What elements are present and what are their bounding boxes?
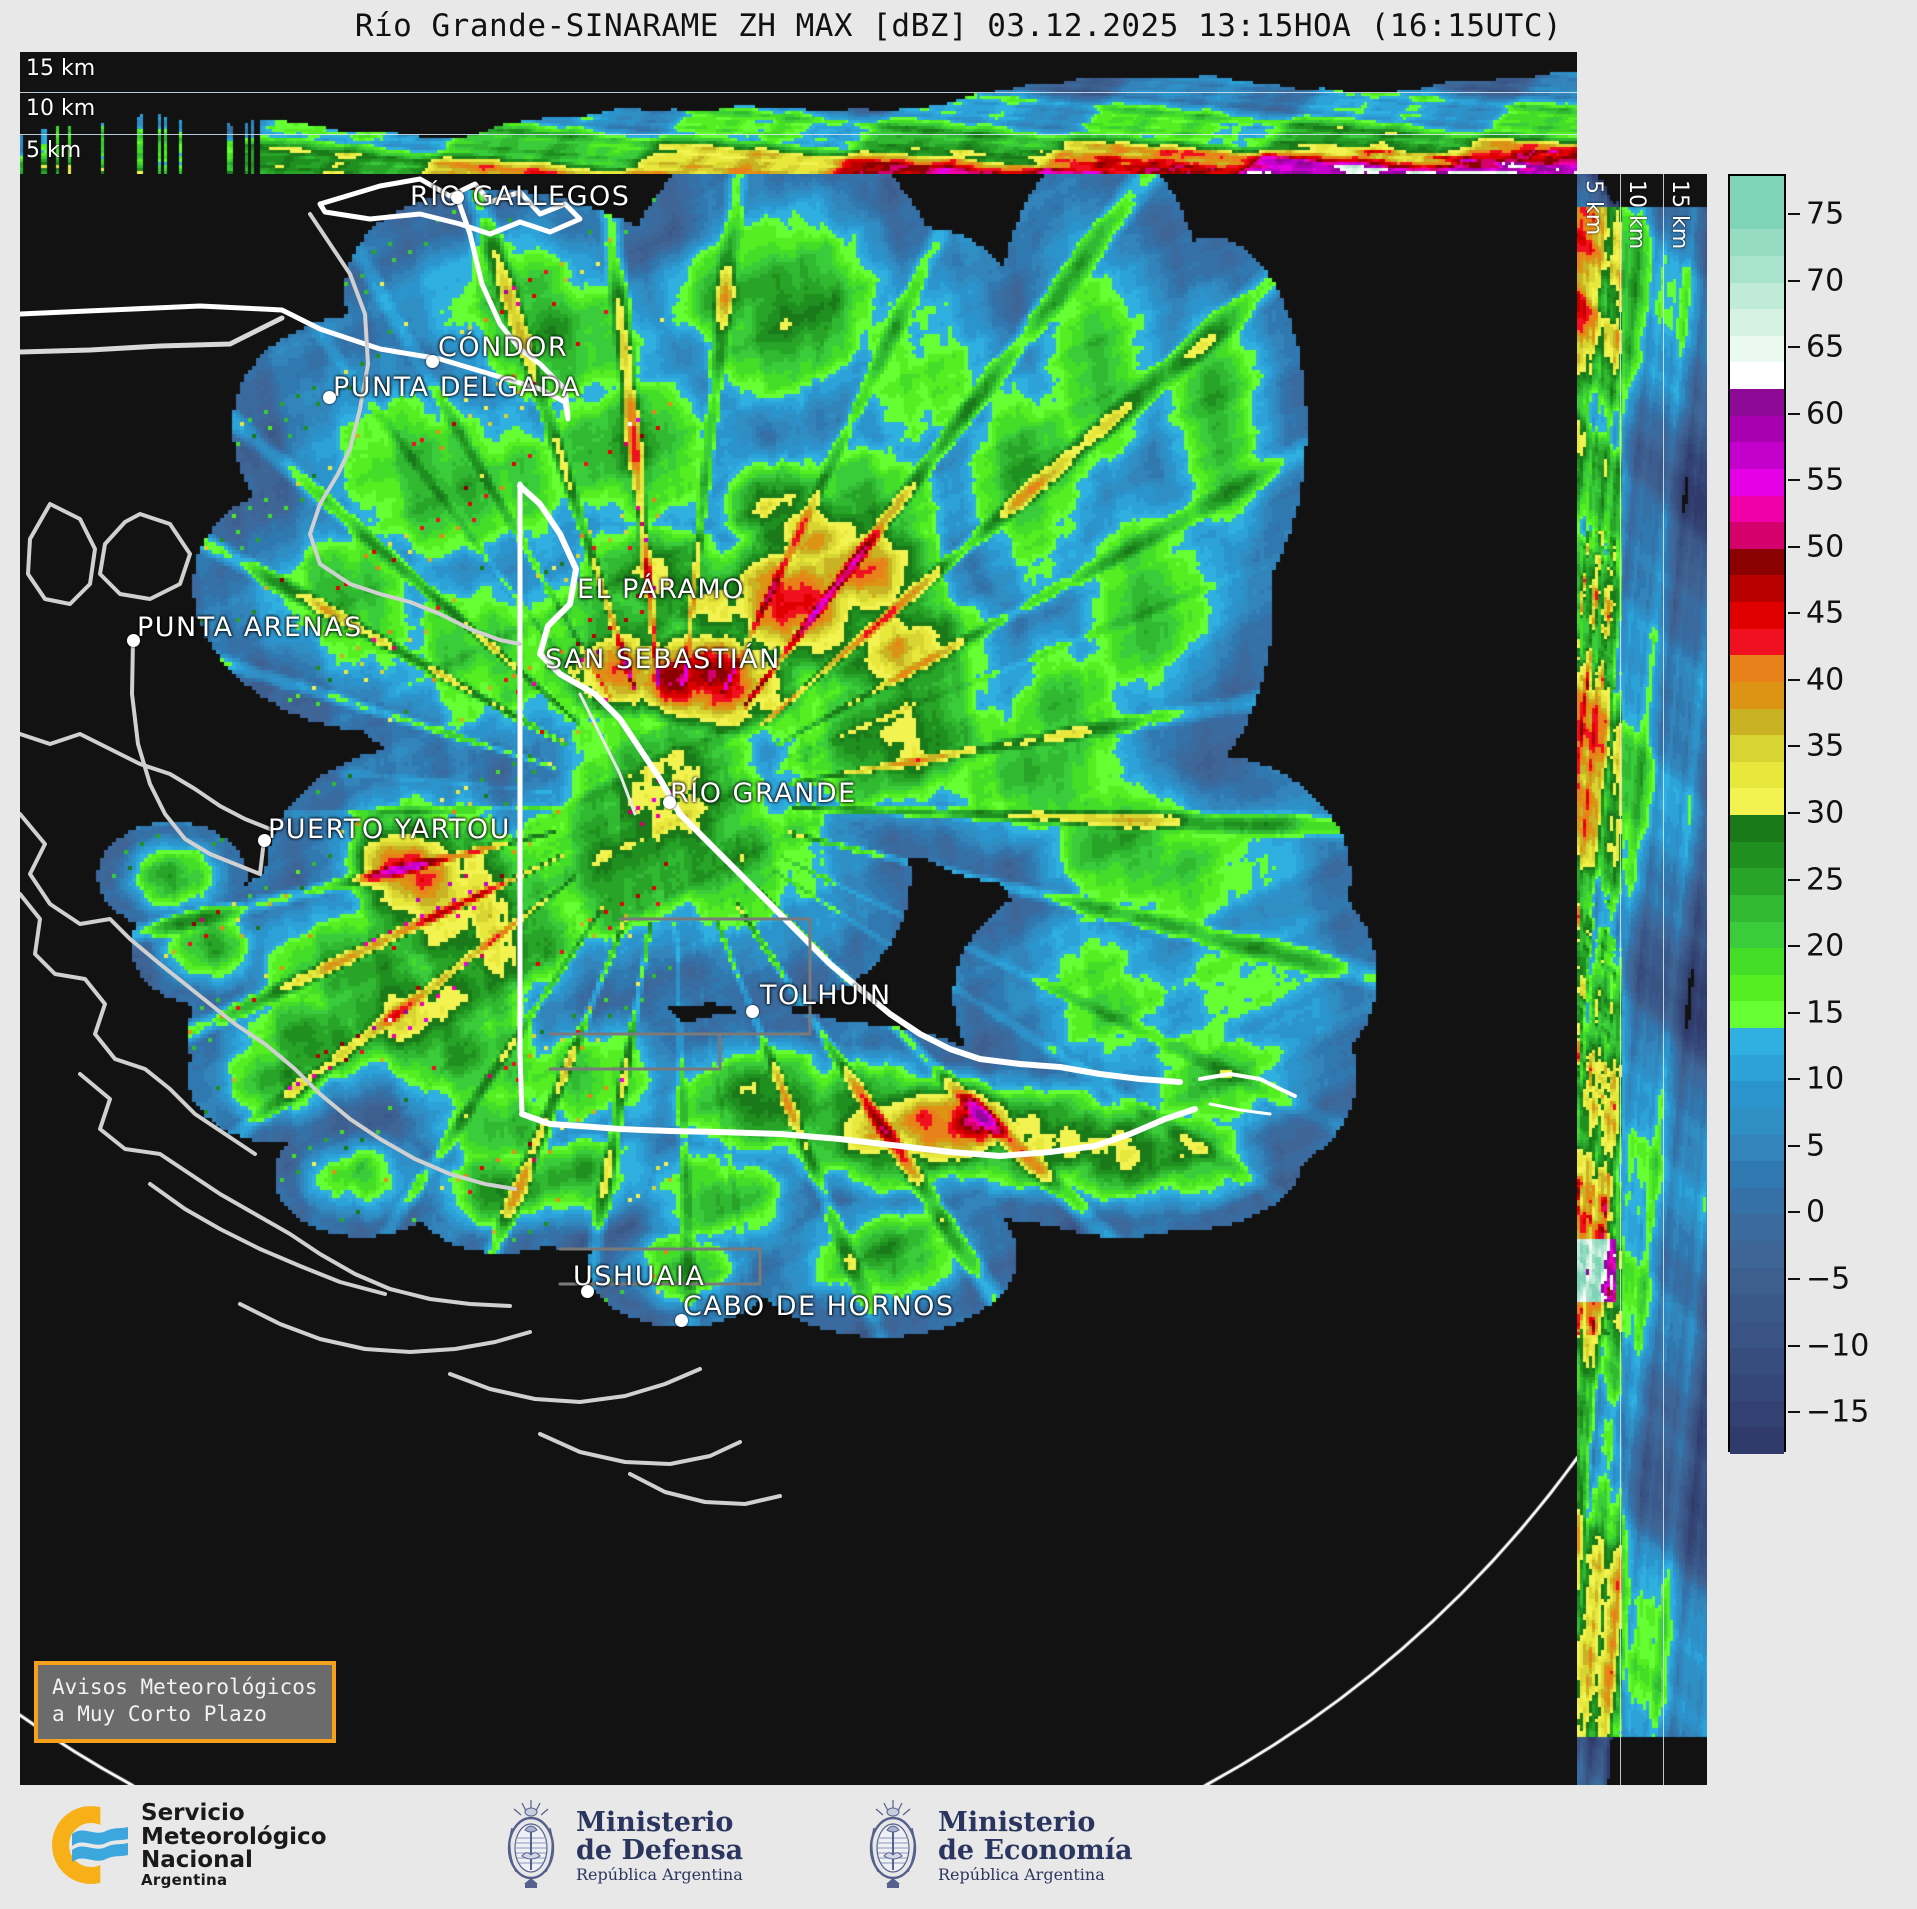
colorbar-tick-label: 5 [1806,1128,1825,1163]
colorbar-segment [1730,1081,1784,1108]
colorbar-segment [1730,682,1784,709]
map-boundary-line [20,814,515,1189]
city-marker-dot [323,391,336,404]
colorbar-segment [1730,469,1784,496]
colorbar-segment [1730,522,1784,549]
colorbar-tick [1788,546,1800,548]
city-marker-dot [258,834,271,847]
map-boundary-line [630,1474,780,1504]
radar-ppi-panel[interactable]: RÍO GALLEGOSCÓNDORPUNTA DELGADAEL PÁRAMO… [20,174,1577,1785]
defensa-line-1: Ministerio [576,1809,743,1838]
colorbar-segment [1730,362,1784,389]
colorbar-tick-label: 35 [1806,729,1844,764]
colorbar-gradient [1728,174,1786,1452]
map-boundary-line [550,1034,720,1069]
colorbar-segment [1730,1427,1784,1454]
map-boundary-line [310,214,520,644]
colorbar-tick-label: 75 [1806,196,1844,231]
logo-smn: Servicio Meteorológico Nacional Argentin… [52,1802,327,1889]
colorbar-tick [1788,612,1800,614]
colorbar-tick-label: 0 [1806,1195,1825,1230]
colorbar-tick-label: 10 [1806,1062,1844,1097]
colorbar-segment [1730,1401,1784,1428]
colorbar-tick [1788,346,1800,348]
colorbar-tick [1788,1411,1800,1413]
colorbar-segment [1730,895,1784,922]
colorbar-segment [1730,709,1784,736]
colorbar-tick-label: 30 [1806,796,1844,831]
colorbar-segment [1730,256,1784,283]
colorbar-segment [1730,1268,1784,1295]
map-boundary-line [20,318,282,352]
colorbar-segment [1730,176,1784,203]
colorbar-segment [1730,1001,1784,1028]
colorbar-tick-label: −15 [1806,1395,1869,1430]
colorbar-tick [1788,879,1800,881]
colorbar-segment [1730,336,1784,363]
map-boundary-line [320,179,580,234]
map-boundary-line [80,1074,510,1306]
colorbar-segment [1730,229,1784,256]
xsec-label-15km: 15 km [26,58,95,80]
colorbar-segment [1730,922,1784,949]
xsec-right-gridline-b [1663,174,1664,1785]
colorbar-segment [1730,655,1784,682]
colorbar-tick [1788,812,1800,814]
warning-legend-box: Avisos Meteorológicos a Muy Corto Plazo [34,1661,336,1743]
economia-line-3: República Argentina [938,1866,1132,1883]
warning-line-2: a Muy Corto Plazo [52,1701,318,1728]
colorbar-tick-label: 45 [1806,596,1844,631]
colorbar-segment [1730,575,1784,602]
colorbar-tick [1788,1278,1800,1280]
xsec-right-label-10km: 10 km [1624,180,1649,249]
defensa-line-3: República Argentina [576,1866,743,1883]
colorbar-segment [1730,1321,1784,1348]
colorbar-segment [1730,549,1784,576]
city-marker-dot [746,1005,759,1018]
map-boundary-line [540,1434,740,1464]
colorbar-segment [1730,496,1784,523]
colorbar-tick-label: 60 [1806,396,1844,431]
xsec-label-5km: 5 km [26,140,81,162]
colorbar-segment [1730,1374,1784,1401]
colorbar-tick [1788,1012,1800,1014]
colorbar-tick-label: 25 [1806,862,1844,897]
colorbar-segment [1730,442,1784,469]
colorbar-tick [1788,413,1800,415]
colorbar-segment [1730,1214,1784,1241]
city-marker-dot [127,634,140,647]
colorbar-tick-label: 70 [1806,263,1844,298]
map-boundary-line [520,486,1180,1082]
colorbar-segment [1730,975,1784,1002]
smn-wave-icon [72,1826,128,1864]
smn-line-3: Nacional [141,1849,327,1873]
colorbar-segment [1730,389,1784,416]
colorbar-tick-label: 55 [1806,463,1844,498]
map-boundary-line [20,734,270,829]
colorbar-segment [1730,788,1784,815]
colorbar-tick [1788,1078,1800,1080]
right-cross-section-panel: 5 km 10 km 15 km [1577,174,1707,1785]
colorbar-segment [1730,1108,1784,1135]
argentina-coat-of-arms-icon [862,1798,924,1894]
footer-logos: Servicio Meteorológico Nacional Argentin… [0,1790,1917,1909]
colorbar-tick [1788,280,1800,282]
colorbar-segment [1730,735,1784,762]
colorbar-segment [1730,815,1784,842]
colorbar-tick [1788,1211,1800,1213]
map-boundary-line [1210,1104,1270,1114]
map-boundary-line [580,694,635,814]
colorbar-tick-label: 50 [1806,529,1844,564]
colorbar-segment [1730,1028,1784,1055]
colorbar-segment [1730,1188,1784,1215]
colorbar-segment [1730,1241,1784,1268]
xsec-gridline-10km [20,92,1577,93]
map-overlay [20,174,1577,1785]
colorbar-segment [1730,1294,1784,1321]
logo-ministerio-economia: Ministerio de Economía República Argenti… [862,1798,1132,1894]
colorbar-segment [1730,868,1784,895]
colorbar-segment [1730,948,1784,975]
map-boundary-line [520,484,522,1114]
top-cross-section-panel: 15 km 10 km 5 km [20,52,1577,174]
xsec-right-label-15km: 15 km [1667,180,1692,249]
city-marker-dot [663,796,676,809]
map-boundary-line [150,1184,385,1294]
colorbar-tick [1788,1345,1800,1347]
logo-ministerio-defensa: Ministerio de Defensa República Argentin… [500,1798,743,1894]
map-boundary-line [132,640,264,874]
colorbar-tick [1788,745,1800,747]
xsec-right-gridline-a [1620,174,1621,1785]
map-boundary-line [620,919,810,1034]
smn-line-1: Servicio [141,1802,327,1826]
map-boundary-line [240,1304,530,1352]
smn-line-2: Meteorológico [141,1826,327,1850]
colorbar-tick-label: 65 [1806,330,1844,365]
colorbar-tick-label: −5 [1806,1261,1850,1296]
city-marker-dot [675,1314,688,1327]
economia-line-1: Ministerio [938,1809,1132,1838]
map-boundary-line [100,514,190,599]
map-boundary-line [28,504,95,604]
xsec-right-label-5km: 5 km [1581,180,1606,235]
map-boundary-line [450,1369,700,1402]
colorbar-tick [1788,945,1800,947]
xsec-gridline-5km [20,134,1577,135]
colorbar-segment [1730,762,1784,789]
map-boundary-line [20,306,568,419]
colorbar-segment [1730,416,1784,443]
colorbar-tick-label: 15 [1806,995,1844,1030]
argentina-coat-of-arms-icon [500,1798,562,1894]
city-marker-dot [426,355,439,368]
colorbar-segment [1730,602,1784,629]
xsec-label-10km: 10 km [26,98,95,120]
colorbar-segment [1730,1348,1784,1375]
map-boundary-line [1200,1074,1295,1096]
map-boundary-line [522,1109,1195,1156]
smn-line-4: Argentina [141,1873,327,1888]
warning-line-1: Avisos Meteorológicos [52,1674,318,1701]
map-boundary-line [560,1249,760,1284]
colorbar: 757065605550454035302520151050−5−10−15 [1728,174,1788,1452]
colorbar-tick [1788,679,1800,681]
economia-line-2: de Economía [938,1837,1132,1866]
colorbar-tick [1788,1145,1800,1147]
colorbar-segment [1730,842,1784,869]
colorbar-segment [1730,283,1784,310]
colorbar-tick-label: 20 [1806,929,1844,964]
colorbar-segment [1730,629,1784,656]
city-marker-dot [581,1285,594,1298]
page-title: Río Grande-SINARAME ZH MAX [dBZ] 03.12.2… [0,0,1917,52]
colorbar-segment [1730,203,1784,230]
colorbar-tick-label: −10 [1806,1328,1869,1363]
colorbar-tick [1788,213,1800,215]
defensa-line-2: de Defensa [576,1837,743,1866]
colorbar-segment [1730,309,1784,336]
colorbar-segment [1730,1161,1784,1188]
colorbar-tick [1788,479,1800,481]
colorbar-segment [1730,1135,1784,1162]
smn-mark-icon [52,1806,130,1884]
city-marker-dot [451,191,464,204]
colorbar-tick-label: 40 [1806,662,1844,697]
map-boundary-line [20,894,255,1154]
colorbar-segment [1730,1055,1784,1082]
